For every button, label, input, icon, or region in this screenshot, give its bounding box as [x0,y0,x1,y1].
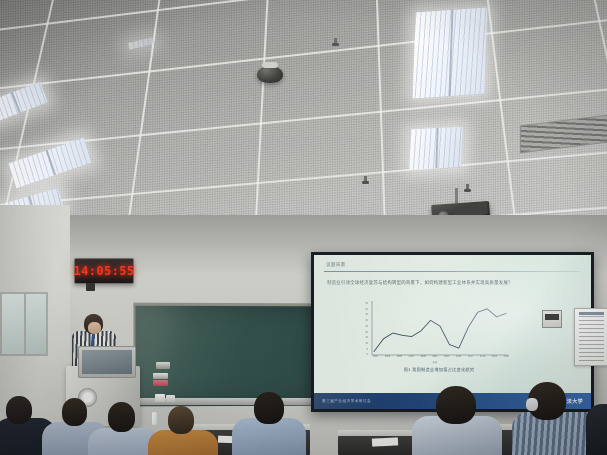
sprinkler-head-icon [464,184,471,193]
schedule-notice-board [574,308,607,366]
ceiling-light-fixture [409,127,462,170]
slide-footer-event-name: 第三届产业经济学术研讨会 [322,399,371,404]
y-tick: 5 [367,349,368,351]
sprinkler-head-icon [362,176,369,185]
chalk-box [153,380,168,386]
presenter-face [88,322,101,334]
blackboard-eraser [156,362,170,369]
podium-monitor [78,346,136,378]
chalk-box [166,395,175,402]
y-tick: 20 [365,332,368,334]
audience-head [168,406,194,434]
slide-title: 议题背景 [326,262,581,268]
ceiling-light-fixture [413,7,488,98]
chart-caption: 图1 我国制造业增加值占比变化趋势 [354,367,524,373]
clock-sensor-icon [86,283,95,291]
y-tick: 35 [365,314,368,316]
slide-chart: 45 40 35 30 25 20 15 10 5 0 [360,299,510,365]
y-tick: 25 [365,326,368,328]
blackboard-eraser [153,373,168,379]
y-tick: 0 [367,354,368,356]
x-tick: 2007 [409,356,414,358]
chalk-box [155,394,165,402]
classroom-photo-scene: 14:05:55 议题背景 制造业引领全球经济复苏与结构转型的背景下，如何构建新… [0,0,607,455]
slide-body-text: 制造业引领全球经济复苏与结构转型的背景下，如何构建新型工业体系并实现高质量发展？ [324,279,581,286]
audience-head [62,398,87,426]
audience-face-mask [526,398,538,411]
desk-paper [372,437,398,446]
y-tick: 40 [365,309,368,311]
audience-head [254,392,284,424]
water-bottle [152,412,157,425]
green-chalkboard [133,303,321,407]
audience-head [108,402,135,432]
audience-head [436,386,476,424]
wall-led-clock: 14:05:55 [74,258,134,284]
x-tick: 2013 [444,356,449,358]
x-tick: 2023 [504,356,509,358]
equipment-control-sign [542,310,562,328]
x-tick: 2005 [397,356,402,358]
chart-x-axis-labels: 2001 2003 2005 2007 2009 2011 2013 2015 … [373,356,509,358]
x-tick: 2001 [373,356,378,358]
x-tick: 2003 [385,356,390,358]
y-tick: 30 [365,320,368,322]
x-tick: 2019 [480,356,485,358]
audience-head [6,396,32,424]
y-tick: 45 [365,303,368,305]
y-tick: 10 [365,343,368,345]
x-tick: 2011 [432,356,437,358]
left-window [0,292,48,356]
ceiling-dome-speaker [257,66,283,83]
slide-title-rule [324,271,581,272]
clock-display-digits: 14:05:55 [74,264,135,278]
x-tick: 2017 [468,356,473,358]
audience-shoulders [586,404,607,455]
y-tick: 15 [365,337,368,339]
chart-plot-area [371,301,509,357]
chart-x-axis-title: 年份 [360,360,510,364]
x-tick: 2021 [492,356,497,358]
sprinkler-head-icon [332,38,339,47]
x-tick: 2015 [456,356,461,358]
chart-y-axis-labels: 45 40 35 30 25 20 15 10 5 0 [359,303,368,357]
x-tick: 2009 [421,356,426,358]
